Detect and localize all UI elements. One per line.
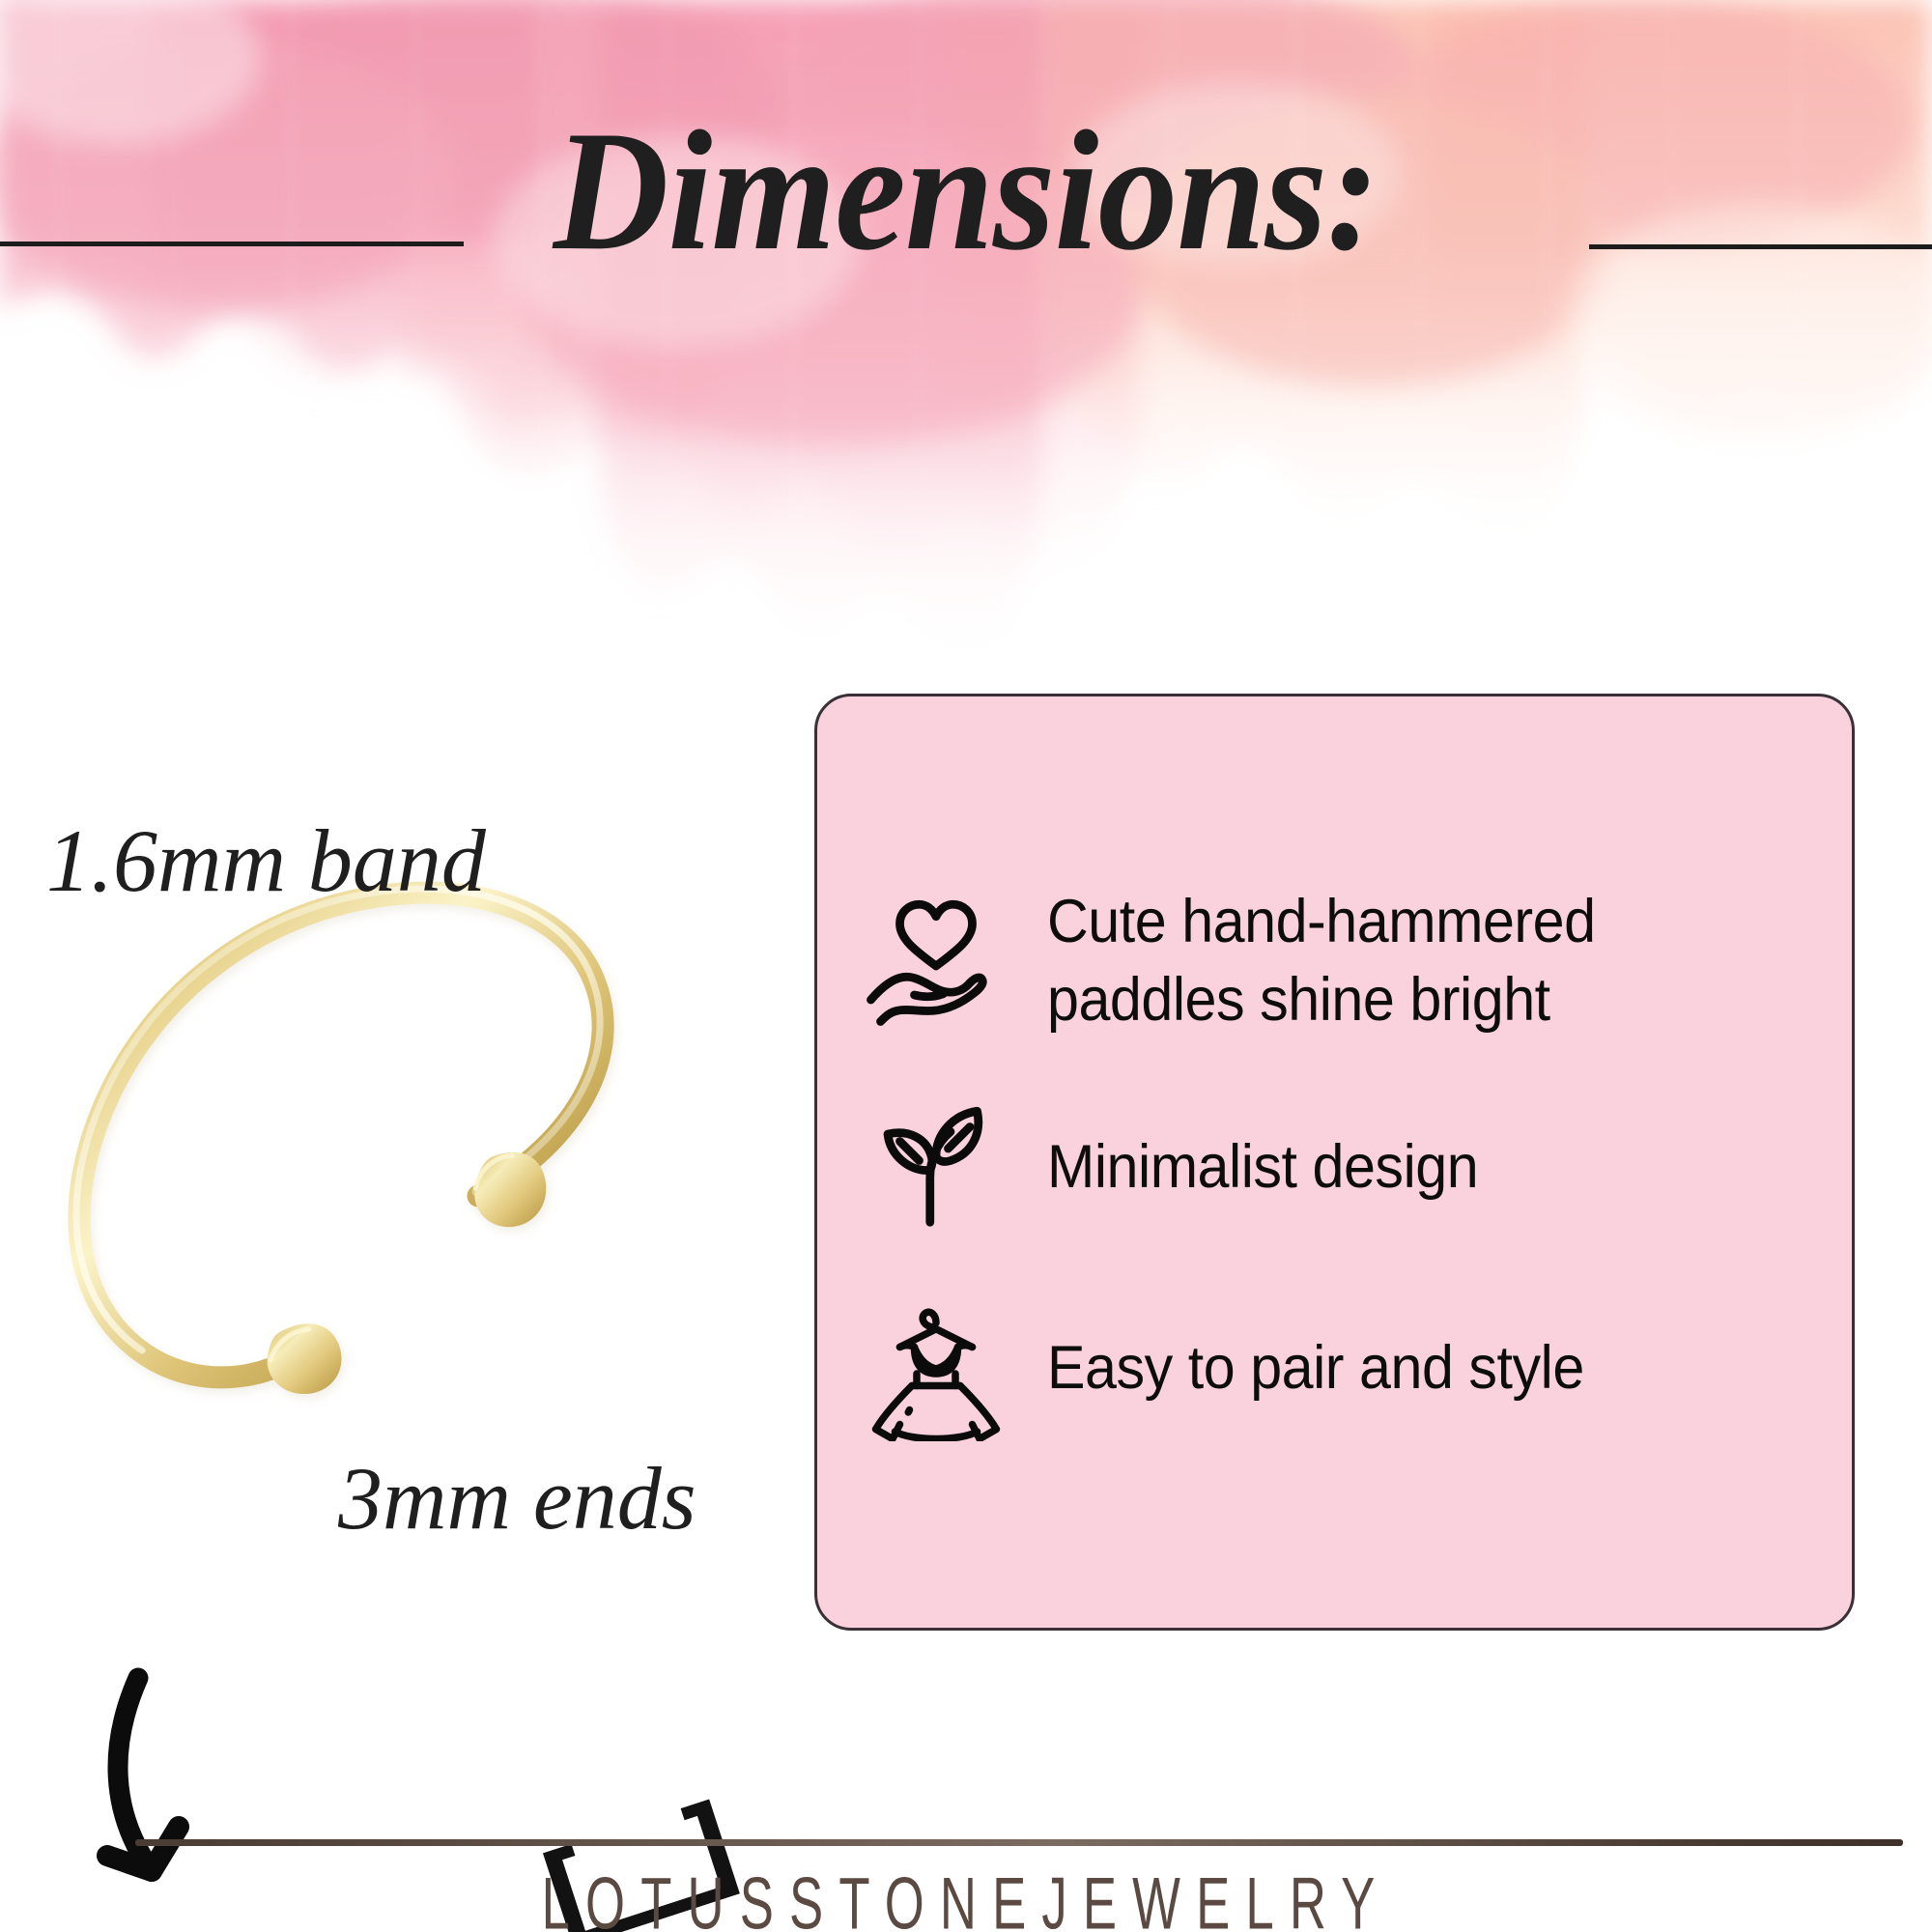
title-band: Dimensions: [0, 58, 1932, 270]
page-title: Dimensions: [68, 104, 1864, 276]
footer-brand: LOTUSSTONEJEWELRY [145, 1862, 1787, 1932]
feature-item: Easy to pair and style [864, 1296, 1798, 1441]
dress-hanger-icon [864, 1296, 1009, 1441]
sprout-leaf-icon [864, 1095, 1009, 1240]
infographic-canvas: Dimensions: [0, 0, 1932, 1932]
heart-in-hand-icon [864, 889, 1009, 1034]
feature-item: Cute hand-hammered paddles shine bright [864, 883, 1798, 1038]
footer-rule [135, 1839, 1903, 1846]
feature-label: Cute hand-hammered paddles shine bright [1047, 883, 1752, 1038]
dimension-label-band: 1.6mm band [46, 816, 486, 905]
feature-label: Minimalist design [1047, 1128, 1478, 1207]
features-card: Cute hand-hammered paddles shine bright [814, 694, 1855, 1631]
features-list: Cute hand-hammered paddles shine bright [817, 696, 1852, 1628]
dimension-label-ends: 3mm ends [338, 1454, 696, 1543]
feature-item: Minimalist design [864, 1095, 1798, 1240]
feature-label: Easy to pair and style [1047, 1329, 1584, 1407]
